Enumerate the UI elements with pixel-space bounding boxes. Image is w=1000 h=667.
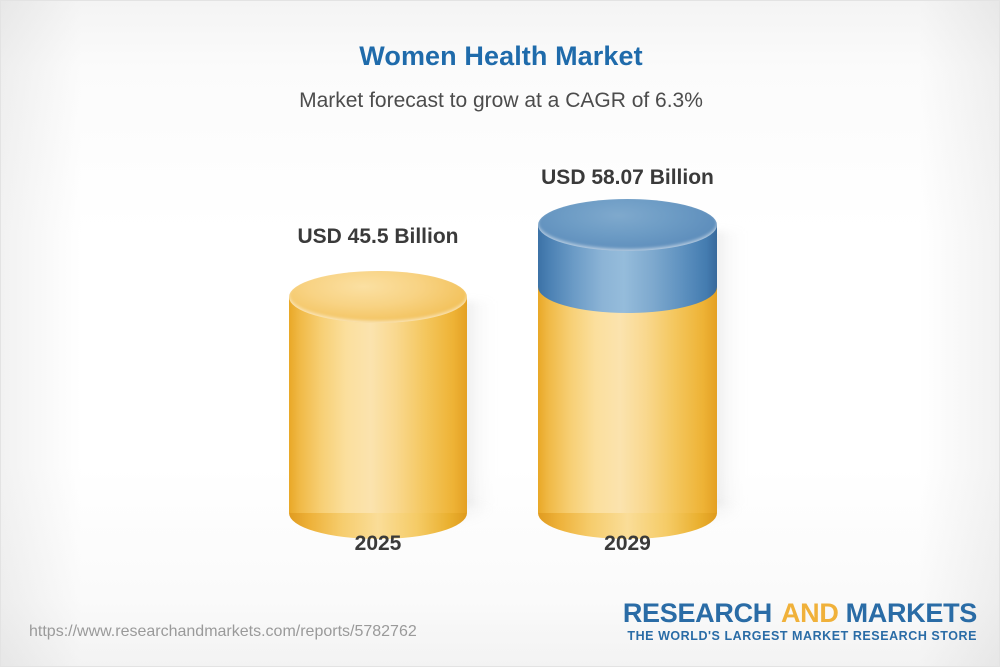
cylinder-segment-growth-2029 (538, 201, 717, 299)
cylinder-2025[interactable] (289, 273, 467, 513)
logo-word-research: RESEARCH (623, 598, 772, 628)
cylinder-body-2025 (289, 297, 467, 513)
bar-side-shadow-2025 (463, 301, 495, 506)
logo-tagline: THE WORLD'S LARGEST MARKET RESEARCH STOR… (623, 629, 977, 643)
bar-value-label-2029: USD 58.07 Billion (538, 166, 717, 190)
infographic-canvas: Women Health Market Market forecast to g… (0, 0, 1000, 667)
bar-chart: USD 45.5 Billion 2025 USD 58 (1, 1, 1000, 601)
logo-wordmark: RESEARCHANDMARKETS (623, 599, 977, 627)
source-url[interactable]: https://www.researchandmarkets.com/repor… (29, 623, 417, 641)
logo-word-markets: MARKETS (846, 598, 977, 628)
bar-category-label-2025: 2025 (289, 532, 467, 556)
cylinder-2029[interactable] (538, 201, 717, 513)
bar-category-label-2029: 2029 (538, 532, 717, 556)
cylinder-top-rim-2025 (289, 271, 467, 323)
logo-word-and: AND (781, 598, 839, 628)
bar-side-shadow-2029 (713, 231, 745, 506)
cylinder-growth-top-rim-2029 (538, 199, 717, 251)
cylinder-segment-base-2025 (289, 273, 467, 513)
bar-value-label-2025: USD 45.5 Billion (289, 225, 467, 249)
research-and-markets-logo[interactable]: RESEARCHANDMARKETS THE WORLD'S LARGEST M… (623, 599, 977, 643)
